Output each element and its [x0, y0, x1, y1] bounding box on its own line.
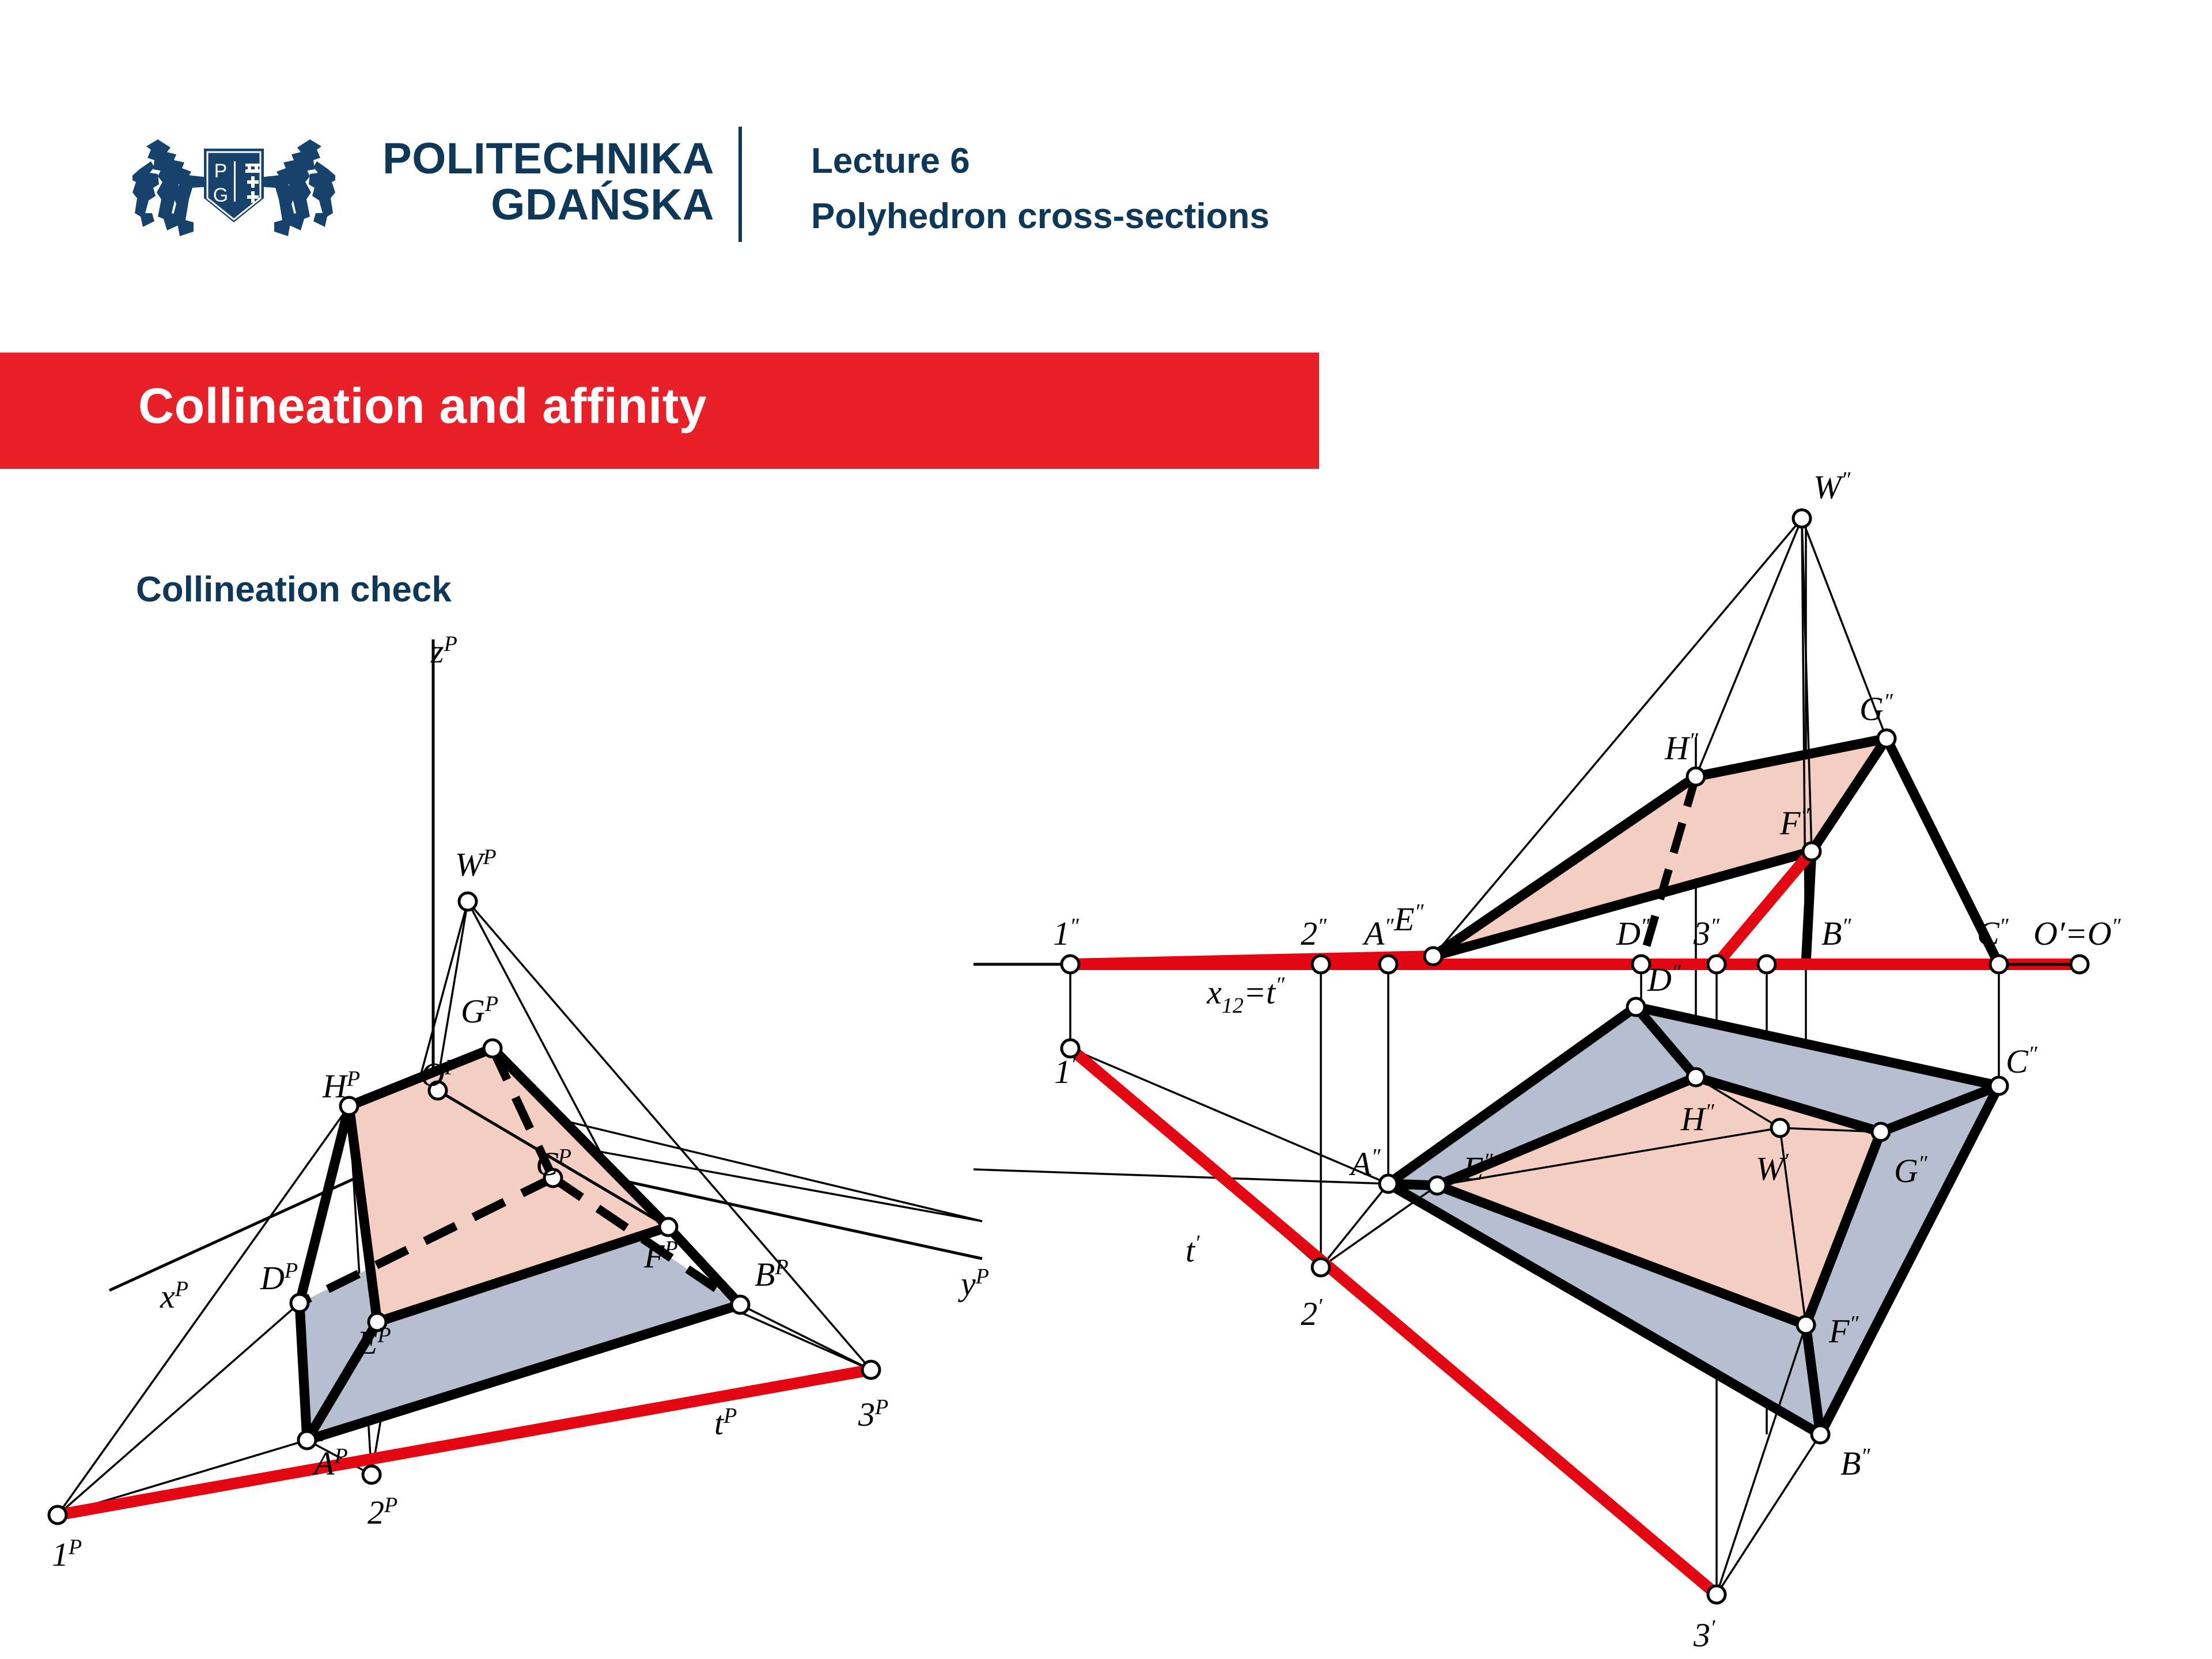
technical-drawing-canvas: zP xP yP WP GP HP OP CP FP DP BP EP AP 1… [0, 0, 2212, 1659]
vertex-H-top [1687, 1069, 1705, 1086]
vertex-D-left [291, 1294, 308, 1312]
label-3-top: 3′ [1693, 1616, 1715, 1654]
vertex-W-left [459, 893, 476, 910]
label-W-front: W″ [1813, 468, 1851, 506]
vertex-B-top [1812, 1426, 1829, 1443]
label-C-top: C″ [2006, 1042, 2038, 1080]
label-D-left: DP [260, 1259, 298, 1297]
label-A-left: AP [312, 1444, 348, 1482]
vertex-A-left [298, 1431, 316, 1449]
front-labels: W″ G″ H″ F″ E″ 1″ 2″ A″ D″ 3″ B″ C″ O′=O… [1053, 468, 2122, 1018]
vertex-F-top [1797, 1316, 1815, 1334]
vertex-G-top [1872, 1123, 1889, 1141]
vertex-G-left [484, 1040, 501, 1057]
label-t-prime: t′ [1185, 1231, 1200, 1269]
label-D-top: D″ [1647, 960, 1681, 998]
label-1-front: 1″ [1053, 914, 1080, 952]
vertex-1-front [1062, 956, 1079, 973]
label-A-front: A″ [1362, 914, 1394, 952]
label-B-top: B″ [1840, 1444, 1870, 1482]
vertex-H-front [1687, 768, 1705, 785]
vertex-2-top [1312, 1259, 1330, 1276]
vertex-W-front [1793, 510, 1810, 527]
label-x12: x12=t″ [1206, 973, 1285, 1018]
label-C-front: C″ [1977, 914, 2009, 952]
vertex-2-front [1312, 956, 1330, 973]
label-B-front: B″ [1821, 914, 1851, 952]
label-G-front: G″ [1859, 690, 1893, 728]
label-1-left: 1P [52, 1535, 82, 1573]
label-D-front: D″ [1616, 914, 1650, 952]
label-A-top: A″ [1349, 1145, 1381, 1183]
vertex-C-top [1990, 1077, 2008, 1094]
label-origin: O′=O″ [2033, 914, 2122, 952]
vertex-A-top [1380, 1175, 1397, 1192]
vertex-F-left [660, 1218, 677, 1236]
vertex-3-top [1708, 1586, 1725, 1603]
label-3-front: 3″ [1693, 914, 1720, 952]
vertex-O-origin [2071, 956, 2088, 973]
left-axonometric-diagram: zP xP yP WP GP HP OP CP FP DP BP EP AP 1… [49, 632, 989, 1573]
label-2-left: 2P [368, 1493, 397, 1531]
vertex-B-left [732, 1296, 749, 1313]
label-H-front: H″ [1664, 729, 1699, 767]
drawing-svg: zP xP yP WP GP HP OP CP FP DP BP EP AP 1… [0, 0, 2212, 1659]
label-axis-x: xP [160, 1277, 188, 1315]
vertex-2-left [363, 1466, 380, 1483]
vertex-1-left [49, 1506, 66, 1524]
label-B-left: BP [755, 1255, 789, 1293]
vertex-C-front [1990, 956, 2008, 973]
vertex-3-front [1708, 956, 1725, 973]
vertex-E-front [1425, 948, 1442, 965]
vertex-E-top [1429, 1177, 1446, 1194]
label-2-top: 2′ [1301, 1294, 1323, 1332]
label-axis-y: yP [958, 1264, 989, 1302]
vertex-B-front [1758, 956, 1775, 973]
label-E-front: E″ [1393, 900, 1424, 938]
label-2-front: 2″ [1301, 914, 1327, 952]
label-3-left: 3P [858, 1395, 888, 1433]
label-axis-z: zP [430, 632, 457, 670]
vertex-F-front [1803, 843, 1820, 860]
right-monge-diagram: W″ G″ H″ F″ E″ 1″ 2″ A″ D″ 3″ B″ C″ O′=O… [974, 468, 2122, 1654]
label-W-left: WP [455, 845, 497, 883]
vertex-G-front [1878, 730, 1895, 747]
label-t-left: tP [714, 1404, 737, 1442]
vertex-D-top [1627, 998, 1645, 1016]
vertex-W-top [1771, 1119, 1789, 1137]
label-G-left: GP [461, 992, 498, 1030]
vertex-A-front [1380, 956, 1397, 973]
vertex-3-left [862, 1361, 880, 1378]
label-1-top: 1′ [1054, 1052, 1076, 1090]
